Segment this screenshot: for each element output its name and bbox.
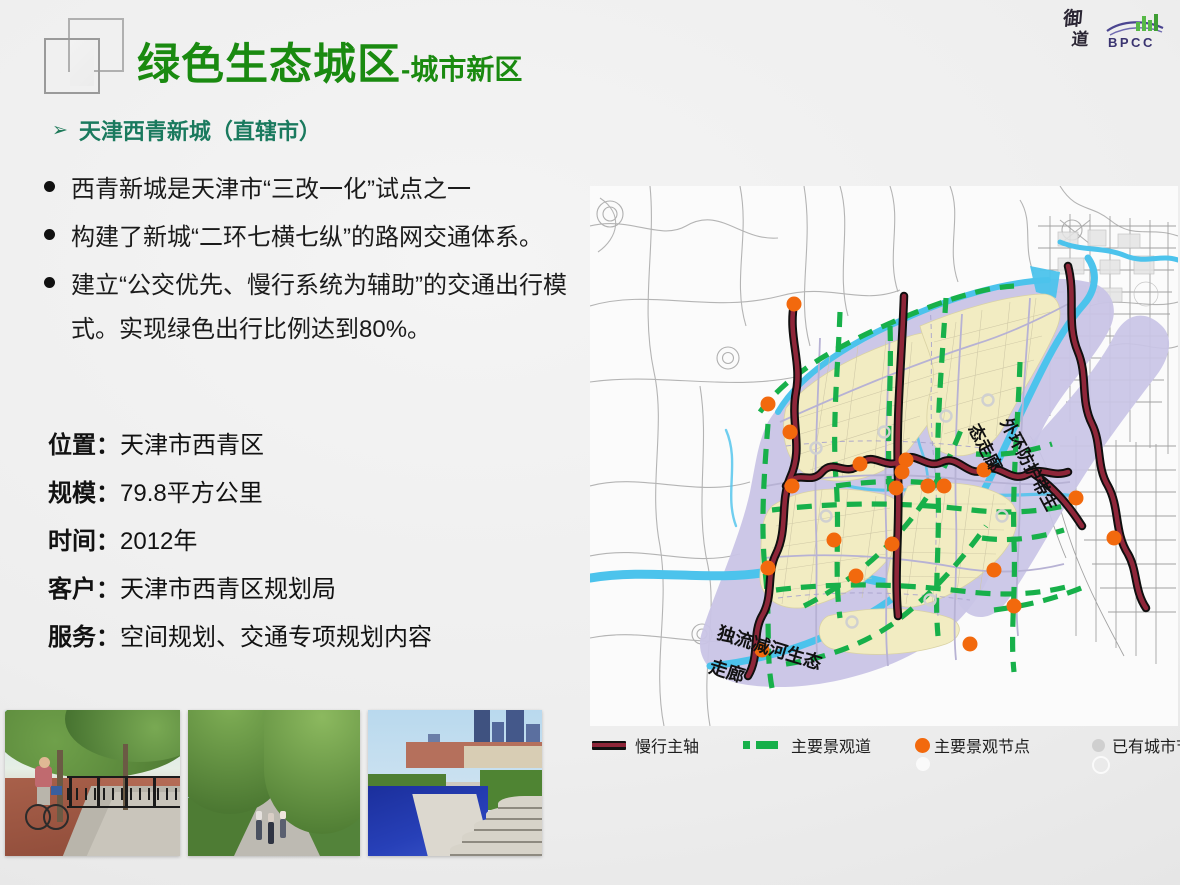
slide-root: 绿色生态城区-城市新区 御 道 BPCC ➢ 天津西青新城（直辖市） 西青新城是… — [0, 0, 1180, 885]
info-key: 客户： — [48, 569, 120, 604]
photo-strip — [5, 710, 542, 856]
brand-calligraphy-char-2: 道 — [1071, 31, 1090, 50]
bullet-dot-icon — [44, 277, 55, 288]
ghost-dot-icon — [916, 757, 930, 771]
orange-dot-icon — [915, 738, 930, 753]
info-row: 客户： 天津市西青区规划局 — [48, 569, 432, 604]
legend-label: 主要景观节点 — [934, 733, 1030, 757]
legend-label: 已有城市节点 — [1112, 733, 1180, 757]
bullet-text: 建立“公交优先、慢行系统为辅助”的交通出行模式。实现绿色出行比例达到80%。 — [71, 264, 574, 352]
bullet-text: 西青新城是天津市“三改一化”试点之一 — [71, 168, 471, 212]
brand-calligraphy-char-1: 御 — [1062, 10, 1083, 29]
photo-greenway-cycling — [5, 710, 180, 856]
info-row: 规模： 79.8平方公里 — [48, 473, 432, 508]
page-title-sub: -城市新区 — [401, 54, 522, 85]
info-value: 天津市西青区 — [120, 425, 264, 460]
map-svg: 独流减河生态 走廊 外环防护带生 态走廊 — [590, 186, 1178, 726]
info-value: 空间规划、交通专项规划内容 — [120, 617, 432, 652]
bullet-dot-icon — [44, 229, 55, 240]
legend-item-landscape-node: 主要景观节点 — [915, 733, 1030, 757]
info-row: 位置： 天津市西青区 — [48, 425, 432, 460]
legend-item-slow-axis: 慢行主轴 — [592, 733, 699, 757]
subheading: ➢ 天津西青新城（直辖市） — [52, 114, 321, 146]
page-title-main: 绿色生态城区 — [137, 41, 401, 89]
arrow-bullet-icon: ➢ — [52, 121, 68, 140]
subheading-text: 天津西青新城（直辖市） — [79, 114, 321, 146]
ghost-ring-icon — [1092, 756, 1110, 774]
brand-acronym: BPCC — [1108, 35, 1155, 50]
info-key: 时间： — [48, 521, 120, 556]
planning-map[interactable]: 独流减河生态 走廊 外环防护带生 态走廊 — [590, 186, 1178, 726]
project-info-list: 位置： 天津市西青区 规模： 79.8平方公里 时间： 2012年 客户： 天津… — [48, 425, 432, 665]
info-row: 时间： 2012年 — [48, 521, 432, 556]
info-value: 79.8平方公里 — [120, 473, 263, 508]
bullet-list: 西青新城是天津市“三改一化”试点之一 构建了新城“二环七横七纵”的路网交通体系。… — [44, 168, 574, 356]
info-key: 规模： — [48, 473, 120, 508]
info-key: 位置： — [48, 425, 120, 460]
dashed-line-icon — [743, 741, 783, 749]
legend-label: 慢行主轴 — [635, 733, 699, 757]
photo-waterfront-skyline — [368, 710, 542, 856]
info-value: 2012年 — [120, 521, 197, 556]
info-key: 服务： — [48, 617, 120, 652]
info-row: 服务： 空间规划、交通专项规划内容 — [48, 617, 432, 652]
info-value: 天津市西青区规划局 — [120, 569, 336, 604]
legend-item-landscape-road: 主要景观道 — [743, 733, 871, 757]
bullet-dot-icon — [44, 181, 55, 192]
gray-dot-icon — [1092, 739, 1105, 752]
photo-willow-walkway — [188, 710, 360, 856]
solid-line-icon — [592, 741, 626, 750]
page-title: 绿色生态城区-城市新区 — [137, 30, 522, 92]
overlapping-squares-logo-icon — [36, 14, 128, 96]
map-legend: 慢行主轴 主要景观道 主要景观节点 已有城市节点 — [592, 733, 1178, 757]
bullet-text: 构建了新城“二环七横七纵”的路网交通体系。 — [71, 216, 543, 260]
legend-item-existing-node: 已有城市节点 — [1092, 733, 1180, 757]
legend-label: 主要景观道 — [791, 733, 871, 757]
green-bars-icon — [1136, 12, 1162, 31]
list-item: 构建了新城“二环七横七纵”的路网交通体系。 — [44, 216, 574, 260]
brand-calligraphy: 御 道 — [1060, 10, 1110, 56]
list-item: 西青新城是天津市“三改一化”试点之一 — [44, 168, 574, 212]
list-item: 建立“公交优先、慢行系统为辅助”的交通出行模式。实现绿色出行比例达到80%。 — [44, 264, 574, 352]
brand-logo: 御 道 BPCC — [1060, 8, 1166, 58]
